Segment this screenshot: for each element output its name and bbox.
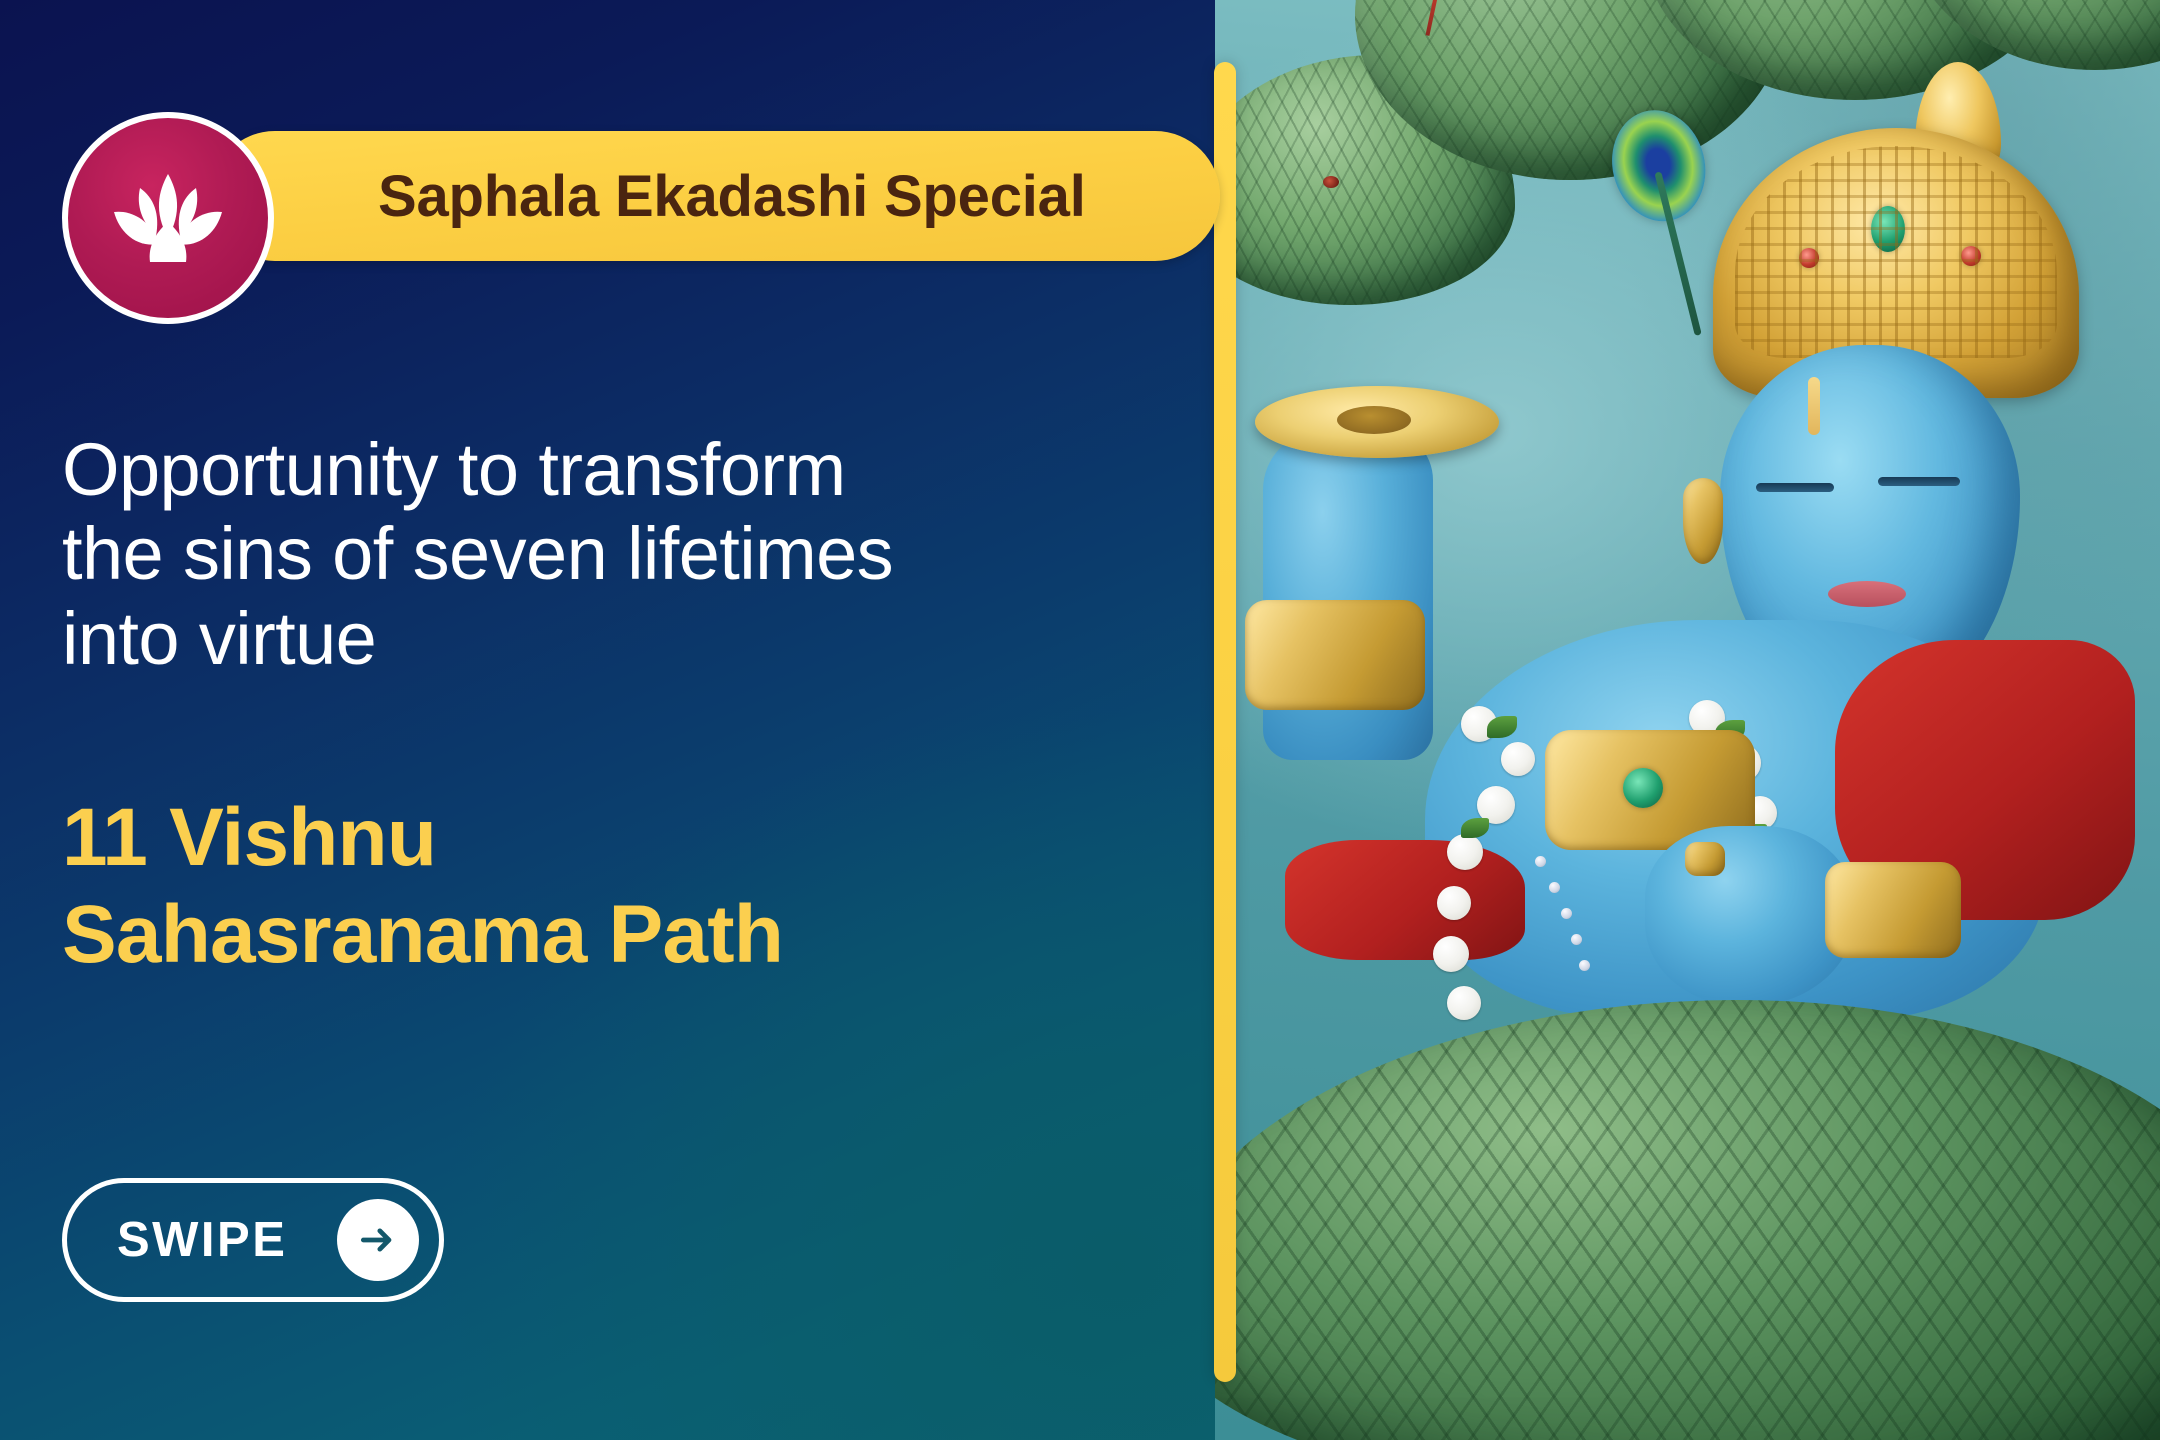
vertical-divider-bar xyxy=(1214,62,1236,1382)
event-badge[interactable]: Saphala Ekadashi Special xyxy=(210,131,1220,261)
sudarshana-disc xyxy=(1255,386,1499,458)
deity-armlet-upper xyxy=(1245,600,1425,710)
deity-eye-left xyxy=(1756,483,1834,492)
crown-gem-left xyxy=(1799,248,1819,268)
garland-flower xyxy=(1447,834,1483,870)
garland-flower xyxy=(1433,936,1469,972)
swipe-button[interactable]: SWIPE xyxy=(62,1178,444,1302)
necklace-bead xyxy=(1549,882,1560,893)
deity-eye-right xyxy=(1878,477,1960,486)
deity-hand xyxy=(1645,826,1855,1006)
headline-line-3: into virtue xyxy=(62,597,1072,681)
artwork-panel xyxy=(1215,0,2160,1440)
garland-flower xyxy=(1447,986,1481,1020)
crown-gem-right xyxy=(1961,246,1981,266)
necklace-bead xyxy=(1535,856,1546,867)
deity-bangle-right xyxy=(1825,862,1961,958)
necklace-bead xyxy=(1561,908,1572,919)
deity-red-sash xyxy=(1285,840,1525,960)
subheadline-line-1: 11 Vishnu xyxy=(62,790,1072,887)
swipe-button-label: SWIPE xyxy=(117,1212,287,1268)
headline-line-2: the sins of seven lifetimes xyxy=(62,512,1072,596)
necklace-bead xyxy=(1571,934,1582,945)
headline-line-1: Opportunity to transform xyxy=(62,428,1072,512)
crown-gem-center xyxy=(1871,206,1905,252)
deity-tilak xyxy=(1808,377,1820,435)
peacock-feather-eye xyxy=(1601,100,1717,231)
event-badge-label: Saphala Ekadashi Special xyxy=(378,163,1086,230)
social-card-canvas: Saphala Ekadashi Special Opportunity to … xyxy=(0,0,2160,1440)
garland-flower xyxy=(1437,886,1471,920)
arrow-right-icon xyxy=(337,1199,419,1281)
deity-ring xyxy=(1685,842,1725,876)
headline-block: Opportunity to transform the sins of sev… xyxy=(62,428,1072,681)
serpent-eye-left xyxy=(1323,176,1339,188)
lotus-icon xyxy=(62,112,274,324)
necklace-bead xyxy=(1579,960,1590,971)
deity-lips xyxy=(1828,581,1906,607)
subheadline-block: 11 Vishnu Sahasranama Path xyxy=(62,790,1072,984)
deity-raised-arm xyxy=(1263,430,1433,760)
subheadline-line-2: Sahasranama Path xyxy=(62,887,1072,984)
chest-ornament-gem xyxy=(1623,768,1663,808)
deity-earring xyxy=(1683,478,1723,564)
garland-flower xyxy=(1501,742,1535,776)
